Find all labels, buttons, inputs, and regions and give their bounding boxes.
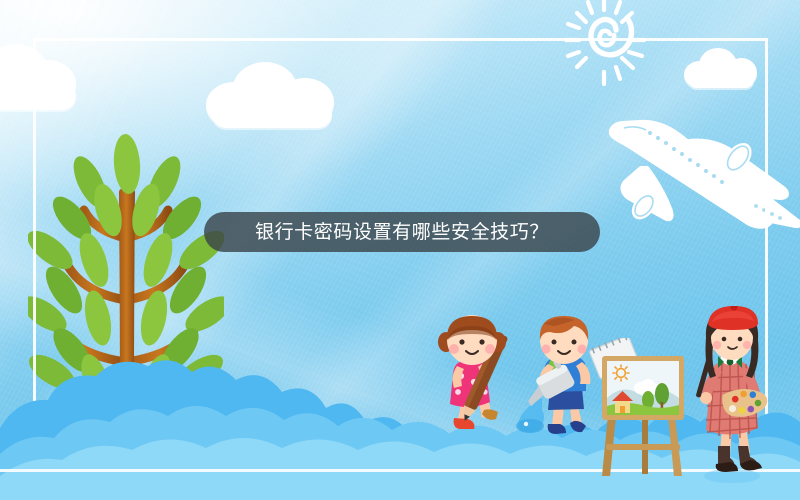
page-title: 银行卡密码设置有哪些安全技巧？ bbox=[255, 223, 549, 242]
character-girl-with-pencil bbox=[424, 312, 520, 441]
cloud-top-left bbox=[0, 42, 94, 112]
cloud-upper-mid bbox=[206, 62, 338, 130]
easel-with-painting bbox=[596, 348, 692, 489]
spiral-sun-icon bbox=[558, 0, 650, 95]
cloud-upper-right bbox=[684, 48, 758, 90]
poster-canvas: 银行卡密码设置有哪些安全技巧？ bbox=[0, 0, 800, 500]
airplane-icon bbox=[588, 88, 800, 238]
title-banner: 银行卡密码设置有哪些安全技巧？ bbox=[204, 212, 600, 252]
character-girl-painter bbox=[688, 306, 774, 489]
